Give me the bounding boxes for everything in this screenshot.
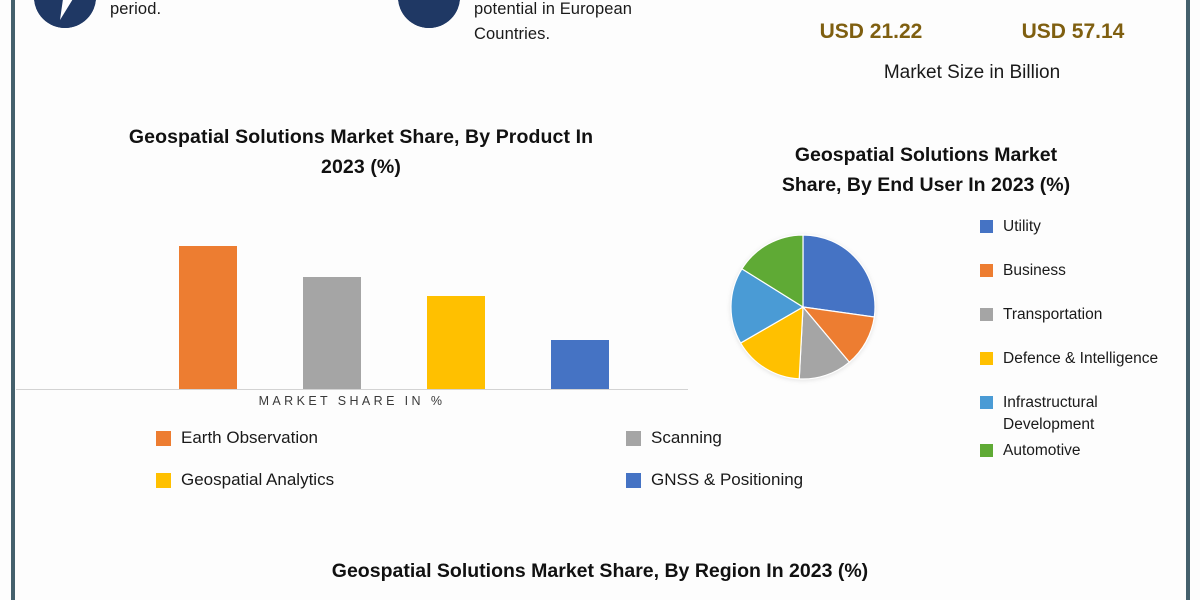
legend-item-automotive: Automotive xyxy=(980,440,1190,462)
bar-chart-title-line1: Geospatial Solutions Market Share, By Pr… xyxy=(16,122,706,152)
legend-swatch-business xyxy=(980,264,993,277)
region-chart-title: Geospatial Solutions Market Share, By Re… xyxy=(0,560,1200,583)
bar-earth-observation xyxy=(179,246,237,389)
legend-swatch-earth-observation xyxy=(156,431,171,446)
legend-swatch-defence-intelligence xyxy=(980,352,993,365)
legend-item-defence-intelligence: Defence & Intelligence xyxy=(980,348,1190,370)
legend-label-geospatial-analytics: Geospatial Analytics xyxy=(181,470,334,490)
legend-swatch-utility xyxy=(980,220,993,233)
legend-item-infrastructural-development: Infrastructural Development xyxy=(980,392,1190,436)
bar-chart-panel: Geospatial Solutions Market Share, By Pr… xyxy=(16,122,706,512)
callout-europe: offer lucrative growth potential in Euro… xyxy=(398,0,754,47)
bar-chart-legend: Earth Observation Scanning Geospatial An… xyxy=(16,428,688,490)
legend-label-infrastructural-development: Infrastructural Development xyxy=(1003,392,1190,436)
callout-forecast-text: during the forecast period. xyxy=(110,0,249,22)
bar-chart-baseline xyxy=(16,389,688,390)
pie-chart-title-line1: Geospatial Solutions Market xyxy=(726,140,1126,170)
pie-chart-legend: Utility Business Transportation Defence … xyxy=(980,216,1190,484)
bar-chart-title-line2: 2023 (%) xyxy=(16,152,706,182)
bar-scanning xyxy=(303,277,361,389)
legend-item-geospatial-analytics: Geospatial Analytics xyxy=(16,470,336,490)
callout-forecast-line2: period. xyxy=(110,0,249,22)
legend-item-utility: Utility xyxy=(980,216,1190,238)
legend-label-business: Business xyxy=(1003,260,1066,282)
legend-item-scanning: Scanning xyxy=(336,428,656,448)
callout-forecast: during the forecast period. xyxy=(34,0,384,28)
legend-swatch-gnss-positioning xyxy=(626,473,641,488)
pie-chart-title-line2: Share, By End User In 2023 (%) xyxy=(726,170,1126,200)
market-size-value-base: USD 21.22 xyxy=(770,0,972,44)
callout-europe-line3: Countries. xyxy=(474,22,632,47)
market-size-value-forecast: USD 57.14 xyxy=(972,0,1174,44)
bar-chart-title: Geospatial Solutions Market Share, By Pr… xyxy=(16,122,706,182)
report-page: during the forecast period. offer lucrat… xyxy=(0,0,1200,600)
legend-item-gnss-positioning: GNSS & Positioning xyxy=(336,470,656,490)
legend-label-defence-intelligence: Defence & Intelligence xyxy=(1003,348,1158,370)
legend-item-business: Business xyxy=(980,260,1190,282)
bar-gnss-positioning xyxy=(551,340,609,389)
lightning-bolt-icon xyxy=(34,0,96,28)
legend-swatch-infrastructural-development xyxy=(980,396,993,409)
pie-chart-graphic xyxy=(728,232,878,382)
legend-label-automotive: Automotive xyxy=(1003,440,1081,462)
market-size-caption: Market Size in Billion xyxy=(770,44,1174,84)
bar-geospatial-analytics xyxy=(427,296,485,389)
globe-leaf-icon xyxy=(398,0,460,28)
legend-item-transportation: Transportation xyxy=(980,304,1190,326)
legend-swatch-automotive xyxy=(980,444,993,457)
pie-chart-panel: Geospatial Solutions Market Share, By En… xyxy=(712,140,1188,490)
legend-swatch-transportation xyxy=(980,308,993,321)
legend-label-utility: Utility xyxy=(1003,216,1041,238)
pie-chart-title: Geospatial Solutions Market Share, By En… xyxy=(726,140,1126,200)
callout-europe-line2: potential in European xyxy=(474,0,632,22)
market-size-block: 2023 2030 USD 21.22 USD 57.14 Market Siz… xyxy=(770,0,1174,84)
legend-label-earth-observation: Earth Observation xyxy=(181,428,318,448)
callout-europe-text: offer lucrative growth potential in Euro… xyxy=(474,0,632,47)
bar-chart-axis-label: MARKET SHARE IN % xyxy=(16,394,688,408)
legend-swatch-scanning xyxy=(626,431,641,446)
left-page-border xyxy=(11,0,15,600)
legend-swatch-geospatial-analytics xyxy=(156,473,171,488)
legend-label-transportation: Transportation xyxy=(1003,304,1102,326)
bar-chart-plot xyxy=(16,200,688,390)
legend-item-earth-observation: Earth Observation xyxy=(16,428,336,448)
market-size-values: USD 21.22 USD 57.14 xyxy=(770,0,1174,44)
